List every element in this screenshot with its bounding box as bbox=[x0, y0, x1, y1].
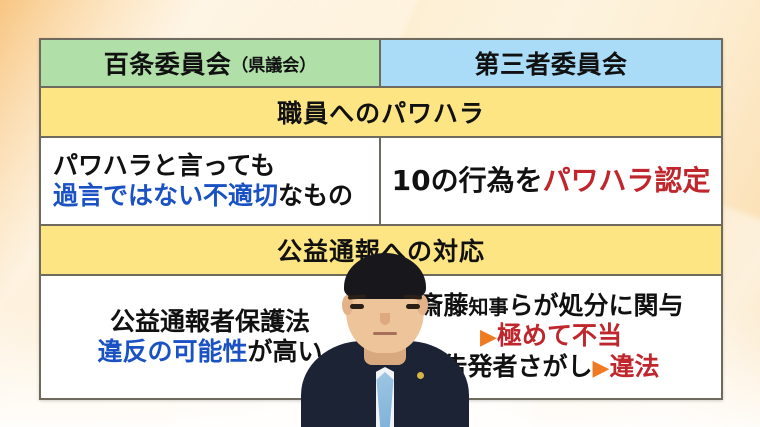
person-mouth bbox=[373, 332, 397, 335]
cell-2-left-line-2-blue: 違反の可能性 bbox=[97, 337, 247, 366]
cell-1-right-red: パワハラ認定 bbox=[543, 164, 711, 197]
person-lapel-badge-icon bbox=[417, 372, 424, 379]
person-nose bbox=[380, 313, 390, 325]
person-overlay bbox=[300, 267, 470, 427]
band-1-label: 職員へのパワハラ bbox=[277, 94, 485, 130]
screenshot-stage: 百条委員会（県議会） 第三者委員会 職員へのパワハラ パワハラと言っても 過言で… bbox=[0, 0, 760, 427]
triangle-marker-icon-2: ▶ bbox=[593, 356, 610, 381]
table-header-row: 百条委員会（県議会） 第三者委員会 bbox=[41, 40, 721, 86]
header-cell-hyakujo: 百条委員会（県議会） bbox=[41, 40, 381, 86]
cell-2-right-title: 知事 bbox=[469, 295, 509, 319]
cell-2-right-line-3-red: 違法 bbox=[609, 352, 659, 381]
cell-1-left-line-1: パワハラと言っても bbox=[45, 151, 275, 182]
body-cell-1-left: パワハラと言っても 過言ではない不適切なもの bbox=[41, 138, 381, 224]
cell-2-right-line-2-red: 極めて不当 bbox=[497, 321, 622, 350]
cell-2-right-line-3: 告発者さがし▶違法 bbox=[443, 352, 660, 383]
triangle-marker-icon-1: ▶ bbox=[480, 325, 497, 350]
header-left-sub-label: （県議会） bbox=[231, 51, 316, 76]
header-cell-third-party: 第三者委員会 bbox=[381, 40, 721, 86]
header-right-label: 第三者委員会 bbox=[474, 45, 627, 81]
cell-1-right-line-1: 10の行為をパワハラ認定 bbox=[392, 164, 711, 198]
header-left-main-label: 百条委員会 bbox=[104, 45, 232, 81]
cell-2-right-line-2: ▶極めて不当 bbox=[480, 321, 622, 352]
table-body-row-1: パワハラと言っても 過言ではない不適切なもの 10の行為をパワハラ認定 bbox=[41, 138, 721, 224]
cell-2-right-rest: らが処分に関与 bbox=[509, 291, 684, 320]
cell-2-left-line-1: 公益通報者保護法 bbox=[110, 307, 310, 338]
section-band-power-harassment: 職員へのパワハラ bbox=[41, 86, 721, 138]
cell-1-left-line-2-black: なもの bbox=[278, 181, 353, 210]
person-eye-left bbox=[350, 304, 364, 309]
body-cell-1-right: 10の行為をパワハラ認定 bbox=[381, 138, 721, 224]
cell-1-right-black: 10の行為を bbox=[392, 164, 543, 197]
cell-1-left-line-2: 過言ではない不適切なもの bbox=[45, 181, 353, 212]
cell-1-left-line-2-blue: 過言ではない不適切 bbox=[53, 181, 278, 210]
cell-2-left-line-2: 違反の可能性が高い bbox=[97, 337, 322, 368]
person-eye-right bbox=[406, 304, 420, 309]
